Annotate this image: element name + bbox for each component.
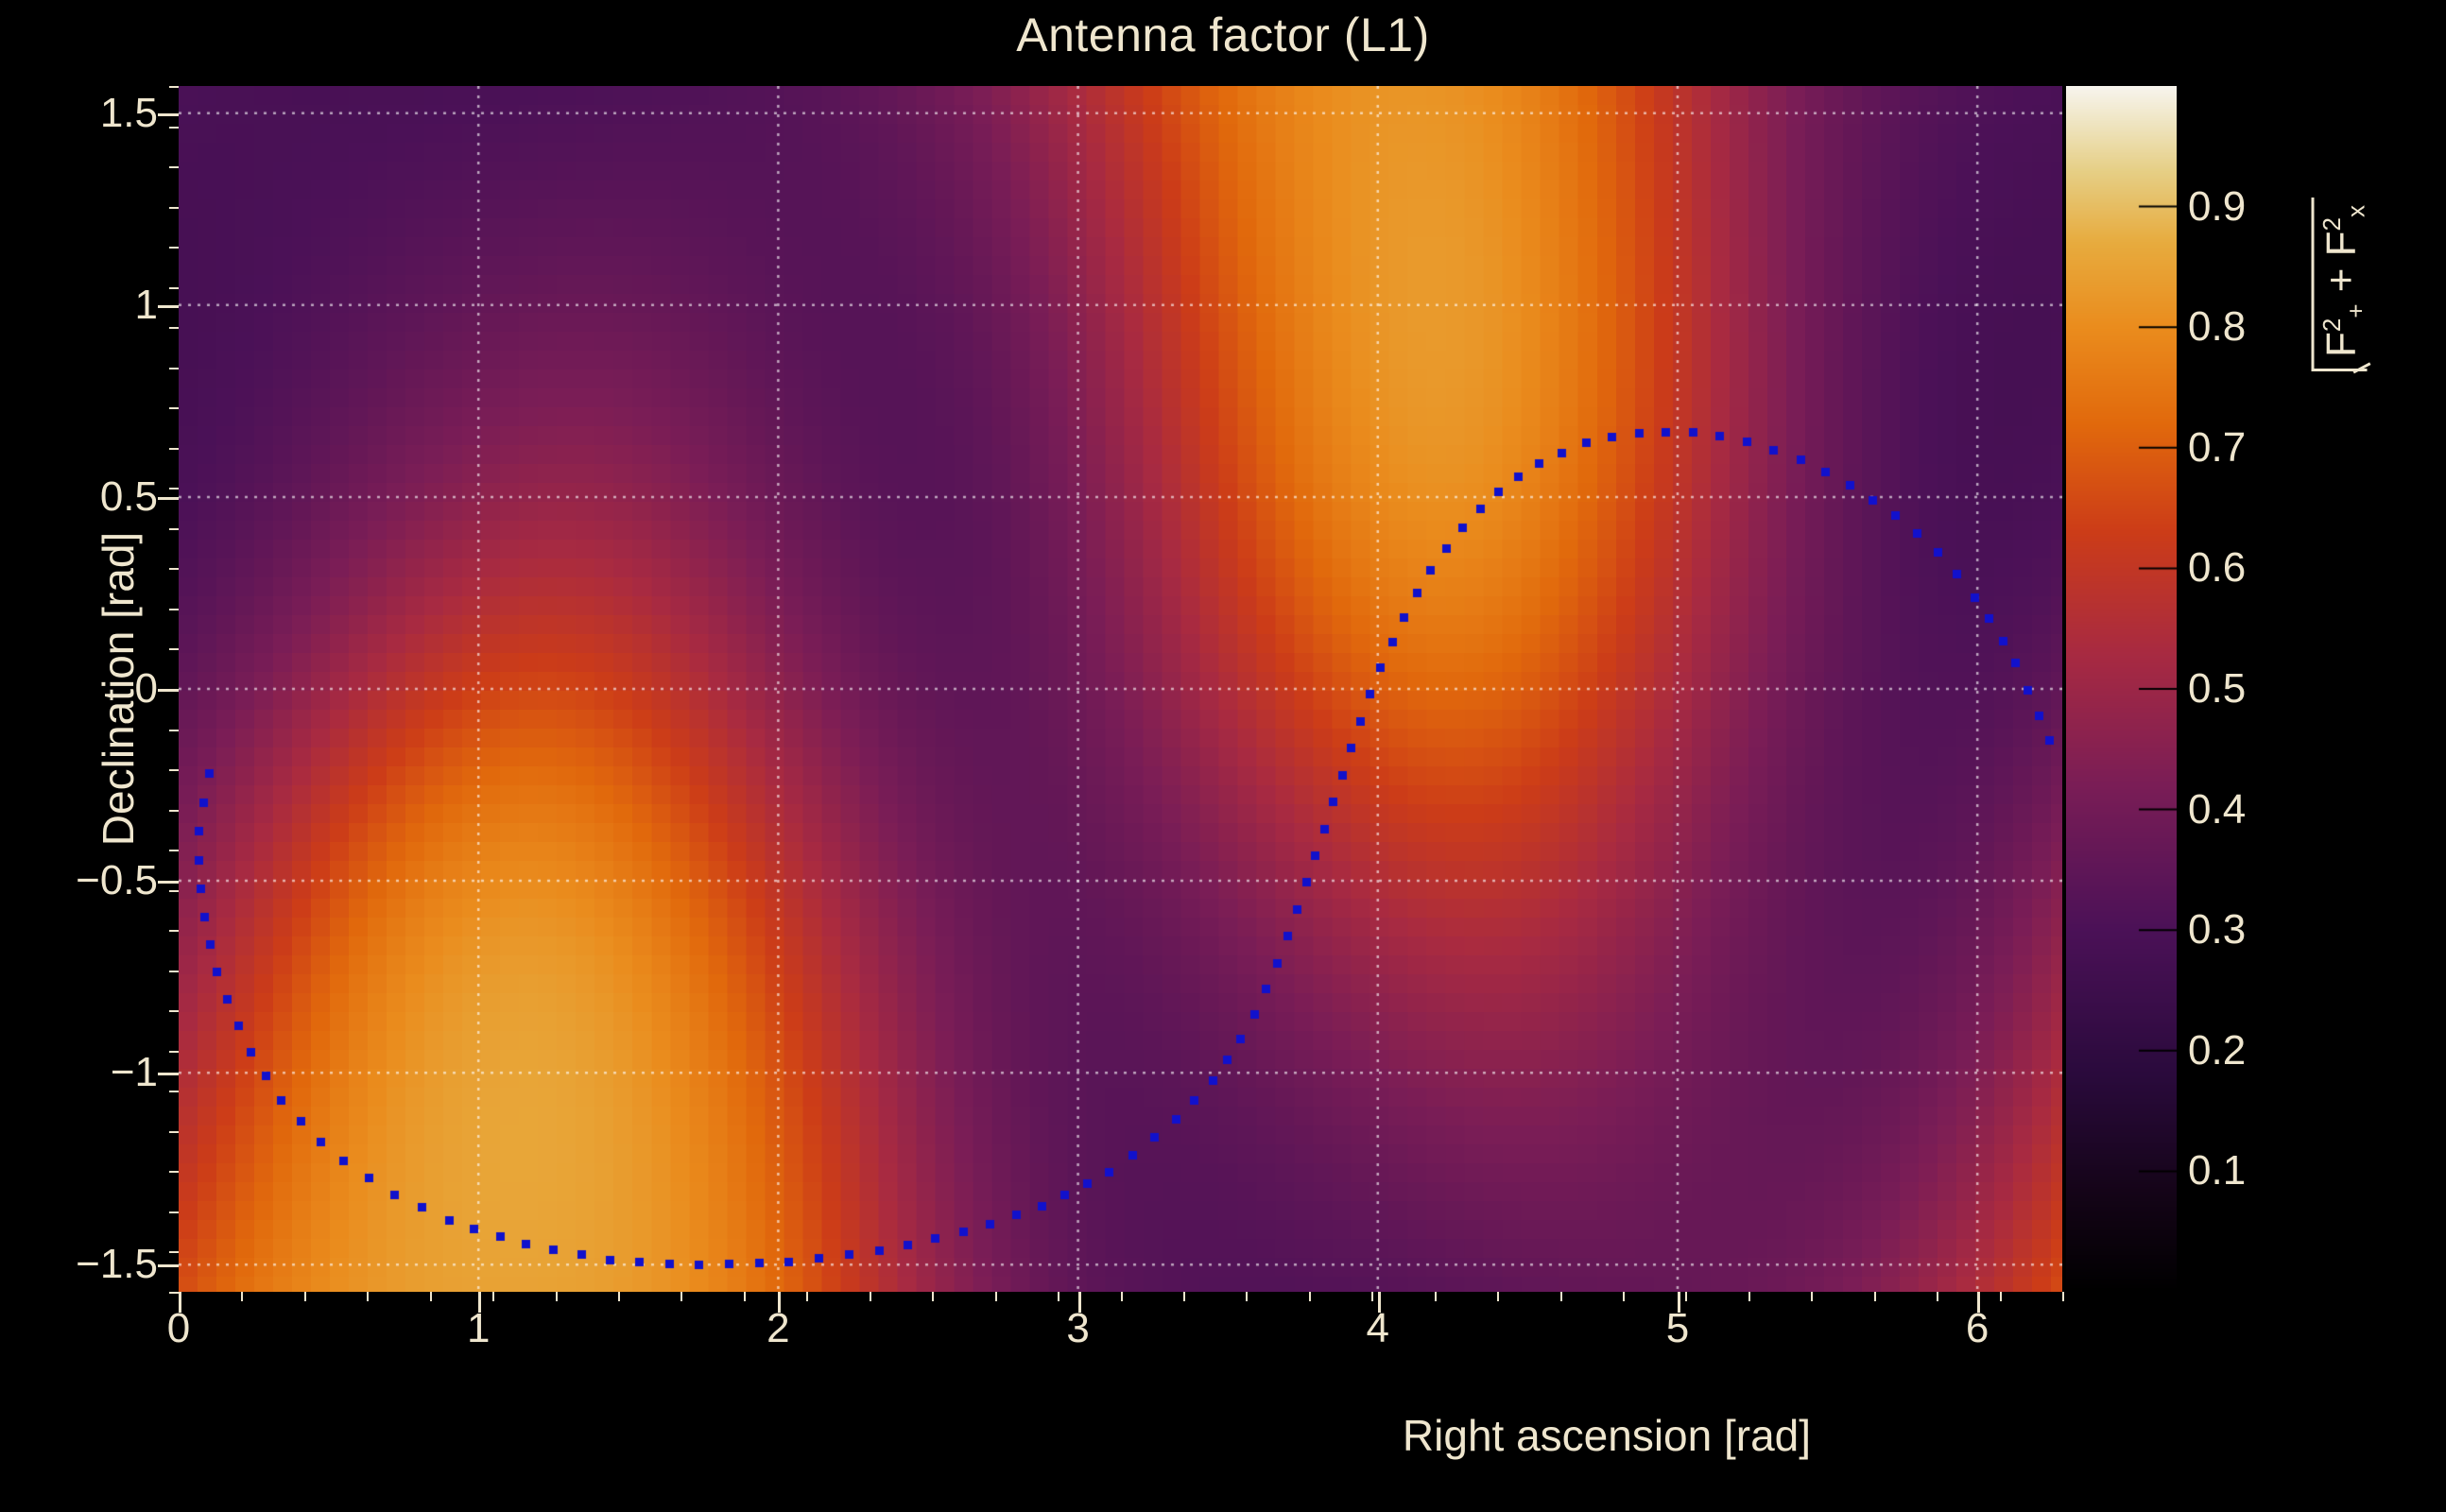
- chart-title: Antenna factor (L1): [0, 8, 2446, 62]
- y-major-tick: [158, 113, 179, 116]
- colorbar-title-wrap: F2+ + F2x: [2334, 86, 2344, 483]
- y-tick-label: −1.5: [0, 1241, 158, 1288]
- y-minor-tick: [169, 1171, 179, 1173]
- x-minor-tick: [995, 1292, 997, 1301]
- y-minor-tick: [169, 971, 179, 972]
- colorbar-title: F2+ + F2x: [2312, 86, 2368, 483]
- y-minor-tick: [169, 207, 179, 209]
- x-minor-tick: [680, 1292, 682, 1301]
- x-major-tick: [478, 1292, 481, 1313]
- x-major-tick: [1977, 1292, 1980, 1313]
- galactic-plane-overlay: [179, 86, 2062, 1292]
- y-minor-tick: [169, 247, 179, 249]
- y-minor-tick: [169, 568, 179, 570]
- y-minor-tick: [169, 1211, 179, 1213]
- colorbar-gradient: [2066, 86, 2177, 1292]
- colorbar-tick-label: 0.4: [2188, 786, 2246, 833]
- y-minor-tick: [169, 930, 179, 932]
- colorbar-tick-label: 0.3: [2188, 906, 2246, 954]
- x-major-tick: [778, 1292, 781, 1313]
- y-minor-tick: [169, 609, 179, 610]
- x-minor-tick: [1246, 1292, 1248, 1301]
- x-minor-tick: [1685, 1292, 1687, 1301]
- y-minor-tick: [169, 1292, 179, 1294]
- x-minor-tick: [1183, 1292, 1185, 1301]
- y-major-tick: [158, 497, 179, 500]
- colorbar-tick-label: 0.2: [2188, 1027, 2246, 1074]
- y-minor-tick: [169, 1131, 179, 1133]
- x-minor-tick: [304, 1292, 306, 1301]
- y-tick-label: 1: [0, 282, 158, 329]
- x-minor-tick: [618, 1292, 620, 1301]
- x-minor-tick: [241, 1292, 243, 1301]
- heatmap-plot-area: [179, 86, 2062, 1292]
- y-minor-tick: [169, 1051, 179, 1053]
- colorbar: [2066, 86, 2177, 1292]
- x-minor-tick: [1435, 1292, 1437, 1301]
- x-major-tick: [1378, 1292, 1381, 1313]
- x-minor-tick: [1937, 1292, 1938, 1301]
- x-major-tick: [1678, 1292, 1680, 1313]
- y-minor-tick: [169, 127, 179, 129]
- y-minor-tick: [169, 488, 179, 490]
- x-minor-tick: [744, 1292, 746, 1301]
- x-minor-tick: [1309, 1292, 1311, 1301]
- y-minor-tick: [169, 648, 179, 650]
- x-minor-tick: [870, 1292, 871, 1301]
- y-tick-label: 0.5: [0, 473, 158, 521]
- colorbar-tick-label: 0.6: [2188, 544, 2246, 592]
- y-minor-tick: [169, 327, 179, 329]
- colorbar-tick-label: 0.8: [2188, 303, 2246, 351]
- y-minor-tick: [169, 1091, 179, 1092]
- y-tick-label: 1.5: [0, 90, 158, 137]
- y-minor-tick: [169, 850, 179, 851]
- x-minor-tick: [556, 1292, 558, 1301]
- x-minor-tick: [1121, 1292, 1123, 1301]
- y-minor-tick: [169, 810, 179, 812]
- x-minor-tick: [1811, 1292, 1813, 1301]
- x-minor-tick: [367, 1292, 369, 1301]
- x-minor-tick: [2000, 1292, 2002, 1301]
- x-minor-tick: [1497, 1292, 1499, 1301]
- colorbar-tick-label: 0.7: [2188, 424, 2246, 472]
- colorbar-tick-label: 0.5: [2188, 665, 2246, 713]
- y-tick-label: −0.5: [0, 857, 158, 904]
- y-major-tick: [158, 689, 179, 692]
- y-minor-tick: [169, 1251, 179, 1253]
- y-tick-label: −1: [0, 1049, 158, 1096]
- y-minor-tick: [169, 448, 179, 450]
- x-minor-tick: [1560, 1292, 1562, 1301]
- x-major-tick: [179, 1292, 181, 1313]
- y-major-tick: [158, 305, 179, 308]
- x-minor-tick: [492, 1292, 494, 1301]
- y-minor-tick: [169, 407, 179, 409]
- y-major-tick: [158, 1264, 179, 1267]
- y-minor-tick: [169, 368, 179, 369]
- x-minor-tick: [430, 1292, 432, 1301]
- x-minor-tick: [806, 1292, 808, 1301]
- y-minor-tick: [169, 528, 179, 530]
- y-major-tick: [158, 1073, 179, 1075]
- chart-canvas: Antenna factor (L1) Declination [rad] Ri…: [0, 0, 2446, 1512]
- x-minor-tick: [1748, 1292, 1750, 1301]
- y-minor-tick: [169, 1010, 179, 1012]
- y-minor-tick: [169, 730, 179, 731]
- y-minor-tick: [169, 166, 179, 168]
- x-minor-tick: [2062, 1292, 2064, 1301]
- colorbar-tick-label: 0.9: [2188, 183, 2246, 231]
- x-minor-tick: [1623, 1292, 1625, 1301]
- x-minor-tick: [932, 1292, 934, 1301]
- y-minor-tick: [169, 769, 179, 771]
- y-major-tick: [158, 881, 179, 884]
- sqrt-radical: F2+ + F2x: [2312, 198, 2368, 371]
- x-minor-tick: [1058, 1292, 1059, 1301]
- x-minor-tick: [1874, 1292, 1876, 1301]
- colorbar-tick-label: 0.1: [2188, 1147, 2246, 1194]
- y-minor-tick: [169, 287, 179, 289]
- x-axis-title: Right ascension [rad]: [1314, 1410, 1900, 1461]
- y-minor-tick: [169, 890, 179, 892]
- y-minor-tick: [169, 86, 179, 88]
- y-tick-label: 0: [0, 665, 158, 713]
- x-minor-tick: [1371, 1292, 1373, 1301]
- x-major-tick: [1078, 1292, 1081, 1313]
